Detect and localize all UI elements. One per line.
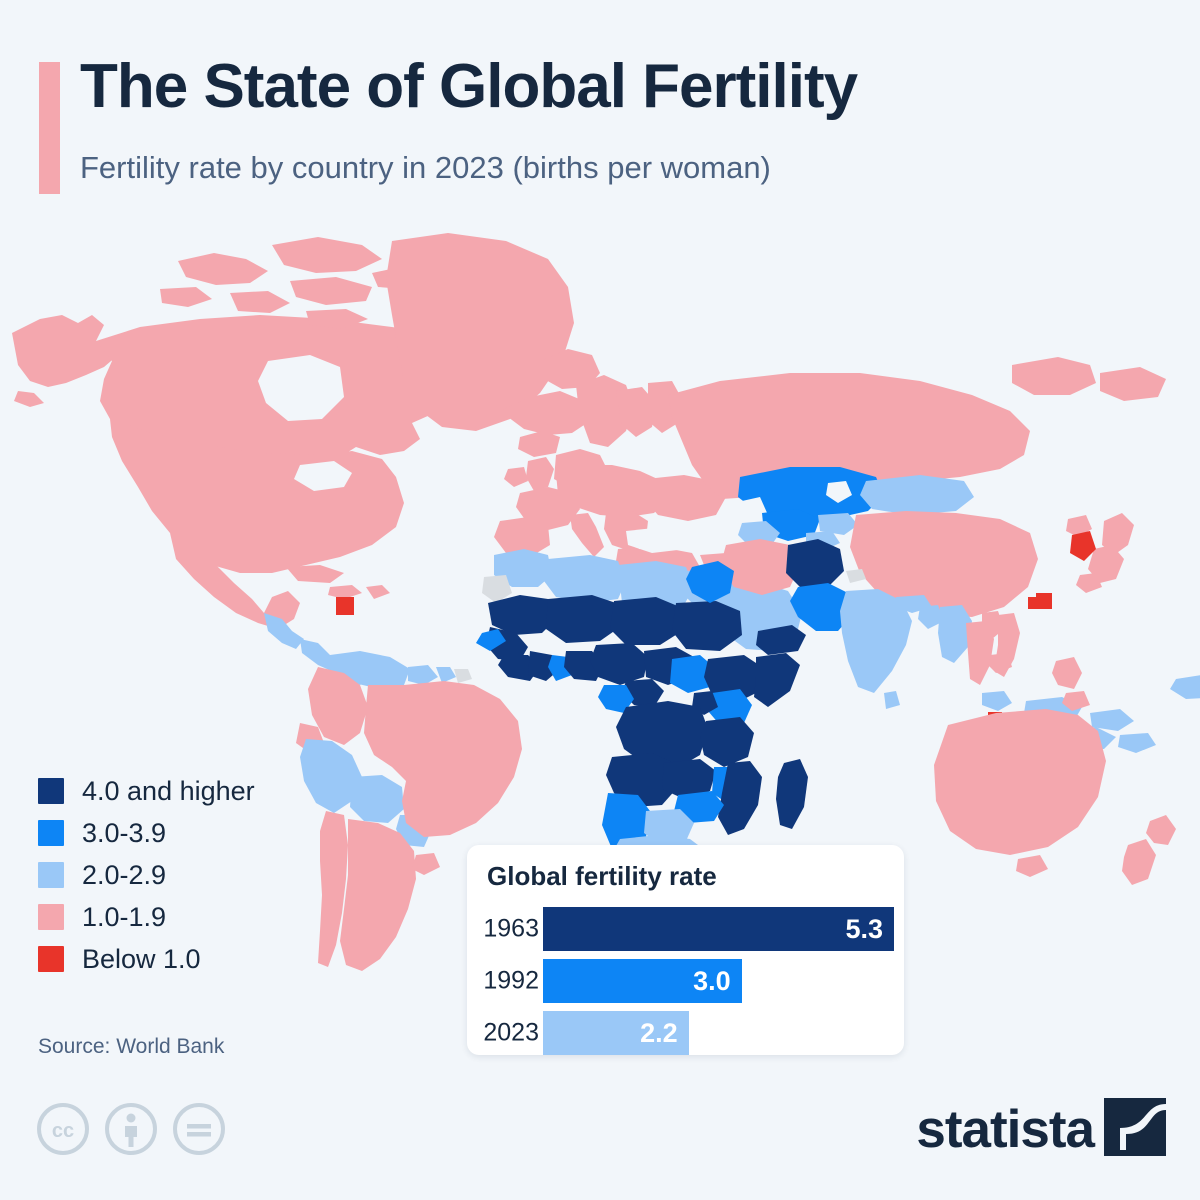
card-title: Global fertility rate [487, 863, 717, 889]
global-fertility-card: Global fertility rate 1963 5.3 1992 3.0 [467, 845, 904, 1055]
bar-category-1: 1992 [481, 969, 539, 994]
header: The State of Global Fertility Fertility … [0, 0, 1200, 215]
infographic-root: The State of Global Fertility Fertility … [0, 0, 1200, 1200]
svg-text:cc: cc [52, 1120, 74, 1142]
bar-row-1: 1992 3.0 [467, 957, 904, 1005]
bar-track-1: 3.0 [543, 959, 894, 1003]
bar-chart: 1963 5.3 1992 3.0 2023 [467, 905, 904, 1061]
bar-category-0: 1963 [481, 917, 539, 942]
bar-track-0: 5.3 [543, 907, 894, 951]
legend-swatch-1 [38, 820, 64, 846]
legend-item-4[interactable]: Below 1.0 [38, 938, 348, 980]
statista-mark-icon [1104, 1098, 1166, 1161]
legend-label-0: 4.0 and higher [82, 778, 255, 805]
map-marker-puerto-rico [336, 597, 354, 615]
bar-value-0: 5.3 [845, 916, 883, 943]
legend-label-1: 3.0-3.9 [82, 820, 166, 847]
bar-row-2: 2023 2.2 [467, 1009, 904, 1057]
legend-item-3[interactable]: 1.0-1.9 [38, 896, 348, 938]
bar-1: 3.0 [543, 959, 742, 1003]
bar-value-1: 3.0 [693, 968, 731, 995]
legend-label-4: Below 1.0 [82, 946, 201, 973]
legend-swatch-0 [38, 778, 64, 804]
page-subtitle: Fertility rate by country in 2023 (birth… [80, 152, 771, 183]
bar-row-0: 1963 5.3 [467, 905, 904, 953]
legend-label-2: 2.0-2.9 [82, 862, 166, 889]
source-text: Source: World Bank [38, 1036, 224, 1057]
statista-wordmark: statista [916, 1103, 1094, 1156]
bar-0: 5.3 [543, 907, 894, 951]
map-region-africa [476, 595, 808, 883]
license-icons: cc [36, 1102, 226, 1156]
title-accent-bar [39, 62, 60, 194]
attribution-icon[interactable] [104, 1102, 158, 1156]
legend-item-1[interactable]: 3.0-3.9 [38, 812, 348, 854]
bar-track-2: 2.2 [543, 1011, 894, 1055]
bar-category-2: 2023 [481, 1021, 539, 1046]
legend-label-3: 1.0-1.9 [82, 904, 166, 931]
map-region-north-america [12, 233, 574, 629]
no-derivatives-icon[interactable] [172, 1102, 226, 1156]
creative-commons-icon[interactable]: cc [36, 1102, 90, 1156]
map-marker-macau [1028, 597, 1040, 609]
bar-2: 2.2 [543, 1011, 689, 1055]
map-legend: 4.0 and higher 3.0-3.9 2.0-2.9 1.0-1.9 B… [38, 770, 348, 980]
legend-swatch-2 [38, 862, 64, 888]
legend-swatch-3 [38, 904, 64, 930]
statista-logo[interactable]: statista [916, 1098, 1166, 1161]
legend-swatch-4 [38, 946, 64, 972]
legend-item-0[interactable]: 4.0 and higher [38, 770, 348, 812]
page-title: The State of Global Fertility [80, 56, 857, 118]
bar-value-2: 2.2 [640, 1020, 678, 1047]
legend-item-2[interactable]: 2.0-2.9 [38, 854, 348, 896]
